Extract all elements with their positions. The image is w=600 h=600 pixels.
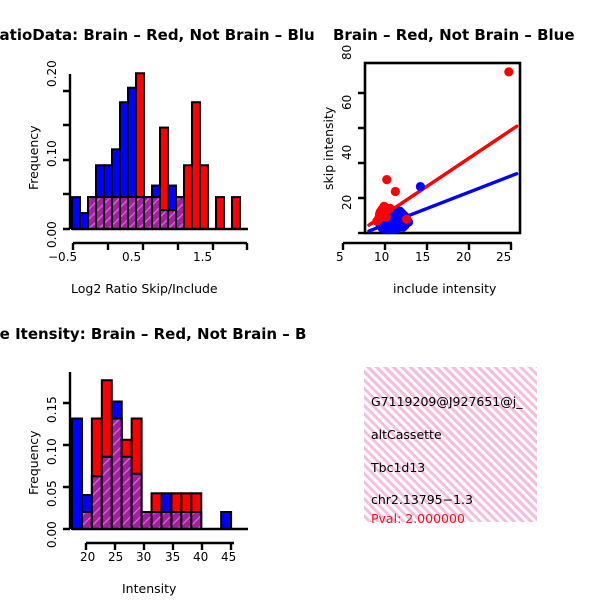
key-line-gene: Tbc1d13: [371, 460, 425, 475]
figure-canvas: RatioData: Brain – Red, Not Brain – Blu …: [0, 0, 600, 600]
ratio-histogram-bars: [72, 73, 240, 229]
scatter-plot: [300, 0, 600, 300]
key-line-id: G7119209@J927651@j_: [371, 394, 522, 409]
key-line-locus: chr2.13795−1.3: [371, 492, 473, 507]
panel-gene-histogram: ne Itensity: Brain – Red, Not Brain – B …: [0, 300, 300, 600]
gene-histogram-plot: [0, 300, 300, 600]
gene-histogram-bars: [72, 380, 231, 529]
key-line-pval: Pval: 2.000000: [371, 511, 465, 526]
key-line-event-type: altCassette: [371, 427, 442, 442]
ratio-histogram-plot: [0, 0, 300, 300]
panel-ratio-histogram: RatioData: Brain – Red, Not Brain – Blu …: [0, 0, 300, 300]
scatter-points: [372, 67, 513, 234]
panel-intensity-scatter: Brain – Red, Not Brain – Blue skip inten…: [300, 0, 600, 300]
panel-key: G7119209@J927651@j_ altCassette Tbc1d13 …: [300, 300, 600, 600]
